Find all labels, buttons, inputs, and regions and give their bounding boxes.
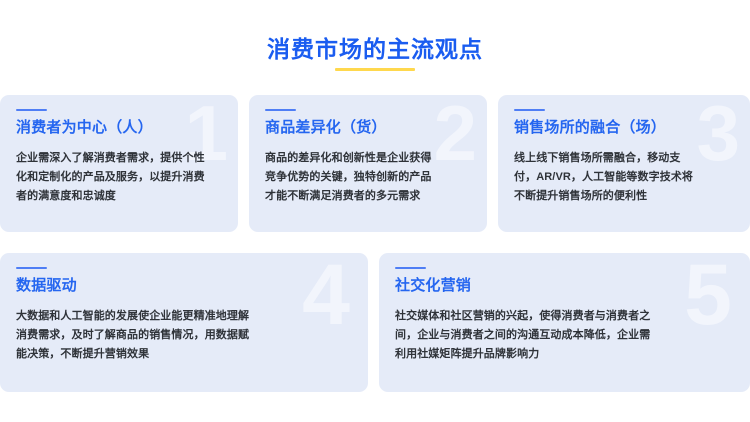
page-header: 消费市场的主流观点 [0,34,750,71]
card-body: 企业需深入了解消费者需求，提供个性 化和定制化的产品及服务，以提升消费 者的满意… [16,149,223,206]
card-body-line: 商品的差异化和创新性是企业获得 [265,149,472,168]
card-body-line: 利用社媒矩阵提升品牌影响力 [395,345,735,364]
viewpoint-card-5[interactable]: 5 社交化营销 社交媒体和社区营销的兴起，使得消费者与消费者之 间，企业与消费者… [379,253,750,392]
viewpoint-card-4[interactable]: 4 数据驱动 大数据和人工智能的发展使企业能更精准地理解 消费需求，及时了解商品… [0,253,368,392]
heading-accent-bar [395,267,426,269]
title-underline-accent [335,68,415,71]
card-body: 社交媒体和社区营销的兴起，使得消费者与消费者之 间，企业与消费者之间的沟通互动成… [395,307,735,364]
card-body-line: 企业需深入了解消费者需求，提供个性 [16,149,223,168]
card-heading: 销售场所的融合（场） [514,118,735,138]
viewpoint-card-1[interactable]: 1 消费者为中心（人） 企业需深入了解消费者需求，提供个性 化和定制化的产品及服… [0,95,238,232]
heading-accent-bar [16,109,47,111]
heading-accent-bar [514,109,545,111]
card-heading: 消费者为中心（人） [16,118,223,138]
card-row-bottom: 4 数据驱动 大数据和人工智能的发展使企业能更精准地理解 消费需求，及时了解商品… [0,253,750,392]
card-body-line: 者的满意度和忠诚度 [16,187,223,206]
card-body: 商品的差异化和创新性是企业获得 竞争优势的关键，独特创新的产品 才能不断满足消费… [265,149,472,206]
card-heading: 商品差异化（货） [265,118,472,138]
card-body-line: 消费需求，及时了解商品的销售情况，用数据赋 [16,326,353,345]
card-heading: 数据驱动 [16,276,353,296]
viewpoint-card-2[interactable]: 2 商品差异化（货） 商品的差异化和创新性是企业获得 竞争优势的关键，独特创新的… [249,95,487,232]
card-body-line: 竞争优势的关键，独特创新的产品 [265,168,472,187]
page-title: 消费市场的主流观点 [0,34,750,64]
card-body-line: 大数据和人工智能的发展使企业能更精准地理解 [16,307,353,326]
card-body-line: 间，企业与消费者之间的沟通互动成本降低，企业需 [395,326,735,345]
card-body: 线上线下销售场所需融合，移动支 付，AR/VR，人工智能等数字技术将 不断提升销… [514,149,735,206]
viewpoint-card-3[interactable]: 3 销售场所的融合（场） 线上线下销售场所需融合，移动支 付，AR/VR，人工智… [498,95,750,232]
card-body-line: 化和定制化的产品及服务，以提升消费 [16,168,223,187]
card-body-line: 能决策，不断提升营销效果 [16,345,353,364]
card-heading: 社交化营销 [395,276,735,296]
heading-accent-bar [265,109,296,111]
heading-accent-bar [16,267,47,269]
card-body-line: 线上线下销售场所需融合，移动支 [514,149,735,168]
card-body-line: 才能不断满足消费者的多元需求 [265,187,472,206]
card-body-line: 不断提升销售场所的便利性 [514,187,735,206]
card-row-top: 1 消费者为中心（人） 企业需深入了解消费者需求，提供个性 化和定制化的产品及服… [0,95,750,232]
card-body: 大数据和人工智能的发展使企业能更精准地理解 消费需求，及时了解商品的销售情况，用… [16,307,353,364]
viewpoint-card-grid: 1 消费者为中心（人） 企业需深入了解消费者需求，提供个性 化和定制化的产品及服… [0,95,750,392]
card-body-line: 社交媒体和社区营销的兴起，使得消费者与消费者之 [395,307,735,326]
card-body-line: 付，AR/VR，人工智能等数字技术将 [514,168,735,187]
